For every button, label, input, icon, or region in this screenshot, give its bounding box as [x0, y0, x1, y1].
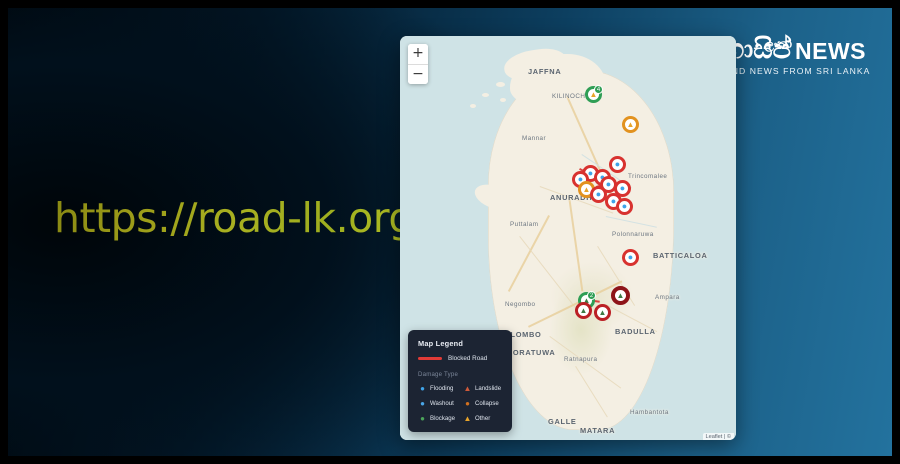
- screenshot-stage: https://road-lk.org/ ගාසිප් ලංකා NEWS UN…: [0, 0, 900, 464]
- legend-item-label: Landslide: [475, 385, 501, 392]
- flooding-drop-icon: ●: [615, 160, 620, 169]
- map-city-label: Ampara: [655, 294, 680, 301]
- flooding-drop-icon: ●: [596, 190, 601, 199]
- map-city-label: Trincomalee: [628, 173, 667, 180]
- map-city-label: BATTICALOA: [653, 251, 707, 260]
- map-city-label: Mannar: [522, 135, 546, 142]
- site-url-watermark: https://road-lk.org/: [54, 194, 427, 242]
- legend-item-label: Washout: [430, 400, 454, 407]
- map-legend: Map Legend Blocked Road Damage Type ●Flo…: [408, 330, 512, 432]
- zoom-controls[interactable]: + −: [408, 44, 428, 84]
- legend-item: ●Collapse: [463, 399, 503, 408]
- landslide-icon: ▲: [580, 307, 588, 315]
- flooding-drop-icon: ●: [620, 184, 625, 193]
- flooding-drop-icon: ●: [628, 253, 633, 262]
- legend-title: Map Legend: [418, 339, 503, 348]
- marker-count-badge: 2: [587, 291, 596, 300]
- legend-item: ▲Landslide: [463, 384, 503, 393]
- map-city-label: Ratnapura: [564, 356, 597, 363]
- washout-drop-icon: ●: [418, 399, 427, 408]
- islet: [496, 82, 505, 87]
- landslide-icon: ▲: [463, 384, 472, 393]
- legend-item-label: Other: [475, 415, 490, 422]
- islet: [482, 93, 489, 97]
- map-marker[interactable]: ▲4: [585, 86, 602, 103]
- map-marker[interactable]: ●: [616, 198, 633, 215]
- map-marker[interactable]: ●: [609, 156, 626, 173]
- legend-item-label: Flooding: [430, 385, 453, 392]
- flooding-drop-icon: ●: [622, 202, 627, 211]
- warning-triangle-icon: ▲: [463, 414, 472, 423]
- map-marker[interactable]: ▲: [594, 304, 611, 321]
- map-attribution[interactable]: Leaflet | ©: [703, 433, 734, 440]
- map-city-label: MATARA: [580, 426, 615, 435]
- map-city-label: Polonnaruwa: [612, 231, 654, 238]
- blockage-icon: ●: [418, 414, 427, 423]
- legend-item: ▲Other: [463, 414, 503, 423]
- zoom-in-button[interactable]: +: [408, 44, 428, 64]
- map-city-label: Negombo: [505, 301, 535, 308]
- map-canvas[interactable]: JAFFNAKILINOCHCHIMannarANURADHAPURATrinc…: [400, 36, 736, 440]
- blocked-road-label: Blocked Road: [448, 355, 487, 362]
- flooding-drop-icon: ●: [418, 384, 427, 393]
- warning-triangle-icon: ▲: [627, 121, 635, 129]
- legend-item: ●Washout: [418, 399, 458, 408]
- map-city-label: Hambantota: [630, 409, 669, 416]
- zoom-out-button[interactable]: −: [408, 64, 428, 84]
- map-marker[interactable]: ▲: [575, 302, 592, 319]
- map-marker[interactable]: ▲: [611, 286, 630, 305]
- map-city-label: GALLE: [548, 417, 577, 426]
- legend-blocked-road-row: Blocked Road: [418, 355, 503, 362]
- page-backdrop: https://road-lk.org/ ගාසිප් ලංකා NEWS UN…: [8, 8, 892, 456]
- marker-count-badge: 4: [594, 85, 603, 94]
- legend-item: ●Blockage: [418, 414, 458, 423]
- logo-news-word: NEWS: [795, 40, 866, 63]
- islet: [500, 98, 506, 102]
- legend-item-label: Collapse: [475, 400, 499, 407]
- map-card[interactable]: JAFFNAKILINOCHCHIMannarANURADHAPURATrinc…: [400, 36, 736, 440]
- collapse-icon: ●: [463, 399, 472, 408]
- legend-item-label: Blockage: [430, 415, 455, 422]
- map-city-label: JAFFNA: [528, 67, 561, 76]
- map-city-label: Puttalam: [510, 221, 538, 228]
- legend-damage-type-grid: ●Flooding▲Landslide●Washout●Collapse●Blo…: [418, 384, 503, 423]
- map-marker[interactable]: ▲: [622, 116, 639, 133]
- landslide-icon: ▲: [617, 292, 625, 300]
- blocked-road-swatch: [418, 357, 442, 360]
- map-marker[interactable]: ●: [622, 249, 639, 266]
- map-city-label: BADULLA: [615, 327, 656, 336]
- islet: [470, 104, 476, 108]
- legend-item: ●Flooding: [418, 384, 458, 393]
- map-city-label: MORATUWA: [506, 348, 555, 357]
- flooding-drop-icon: ●: [606, 180, 611, 189]
- legend-damage-type-label: Damage Type: [418, 371, 503, 378]
- logo-sinhala-sup: ලංකා: [764, 38, 792, 51]
- landslide-icon: ▲: [599, 309, 607, 317]
